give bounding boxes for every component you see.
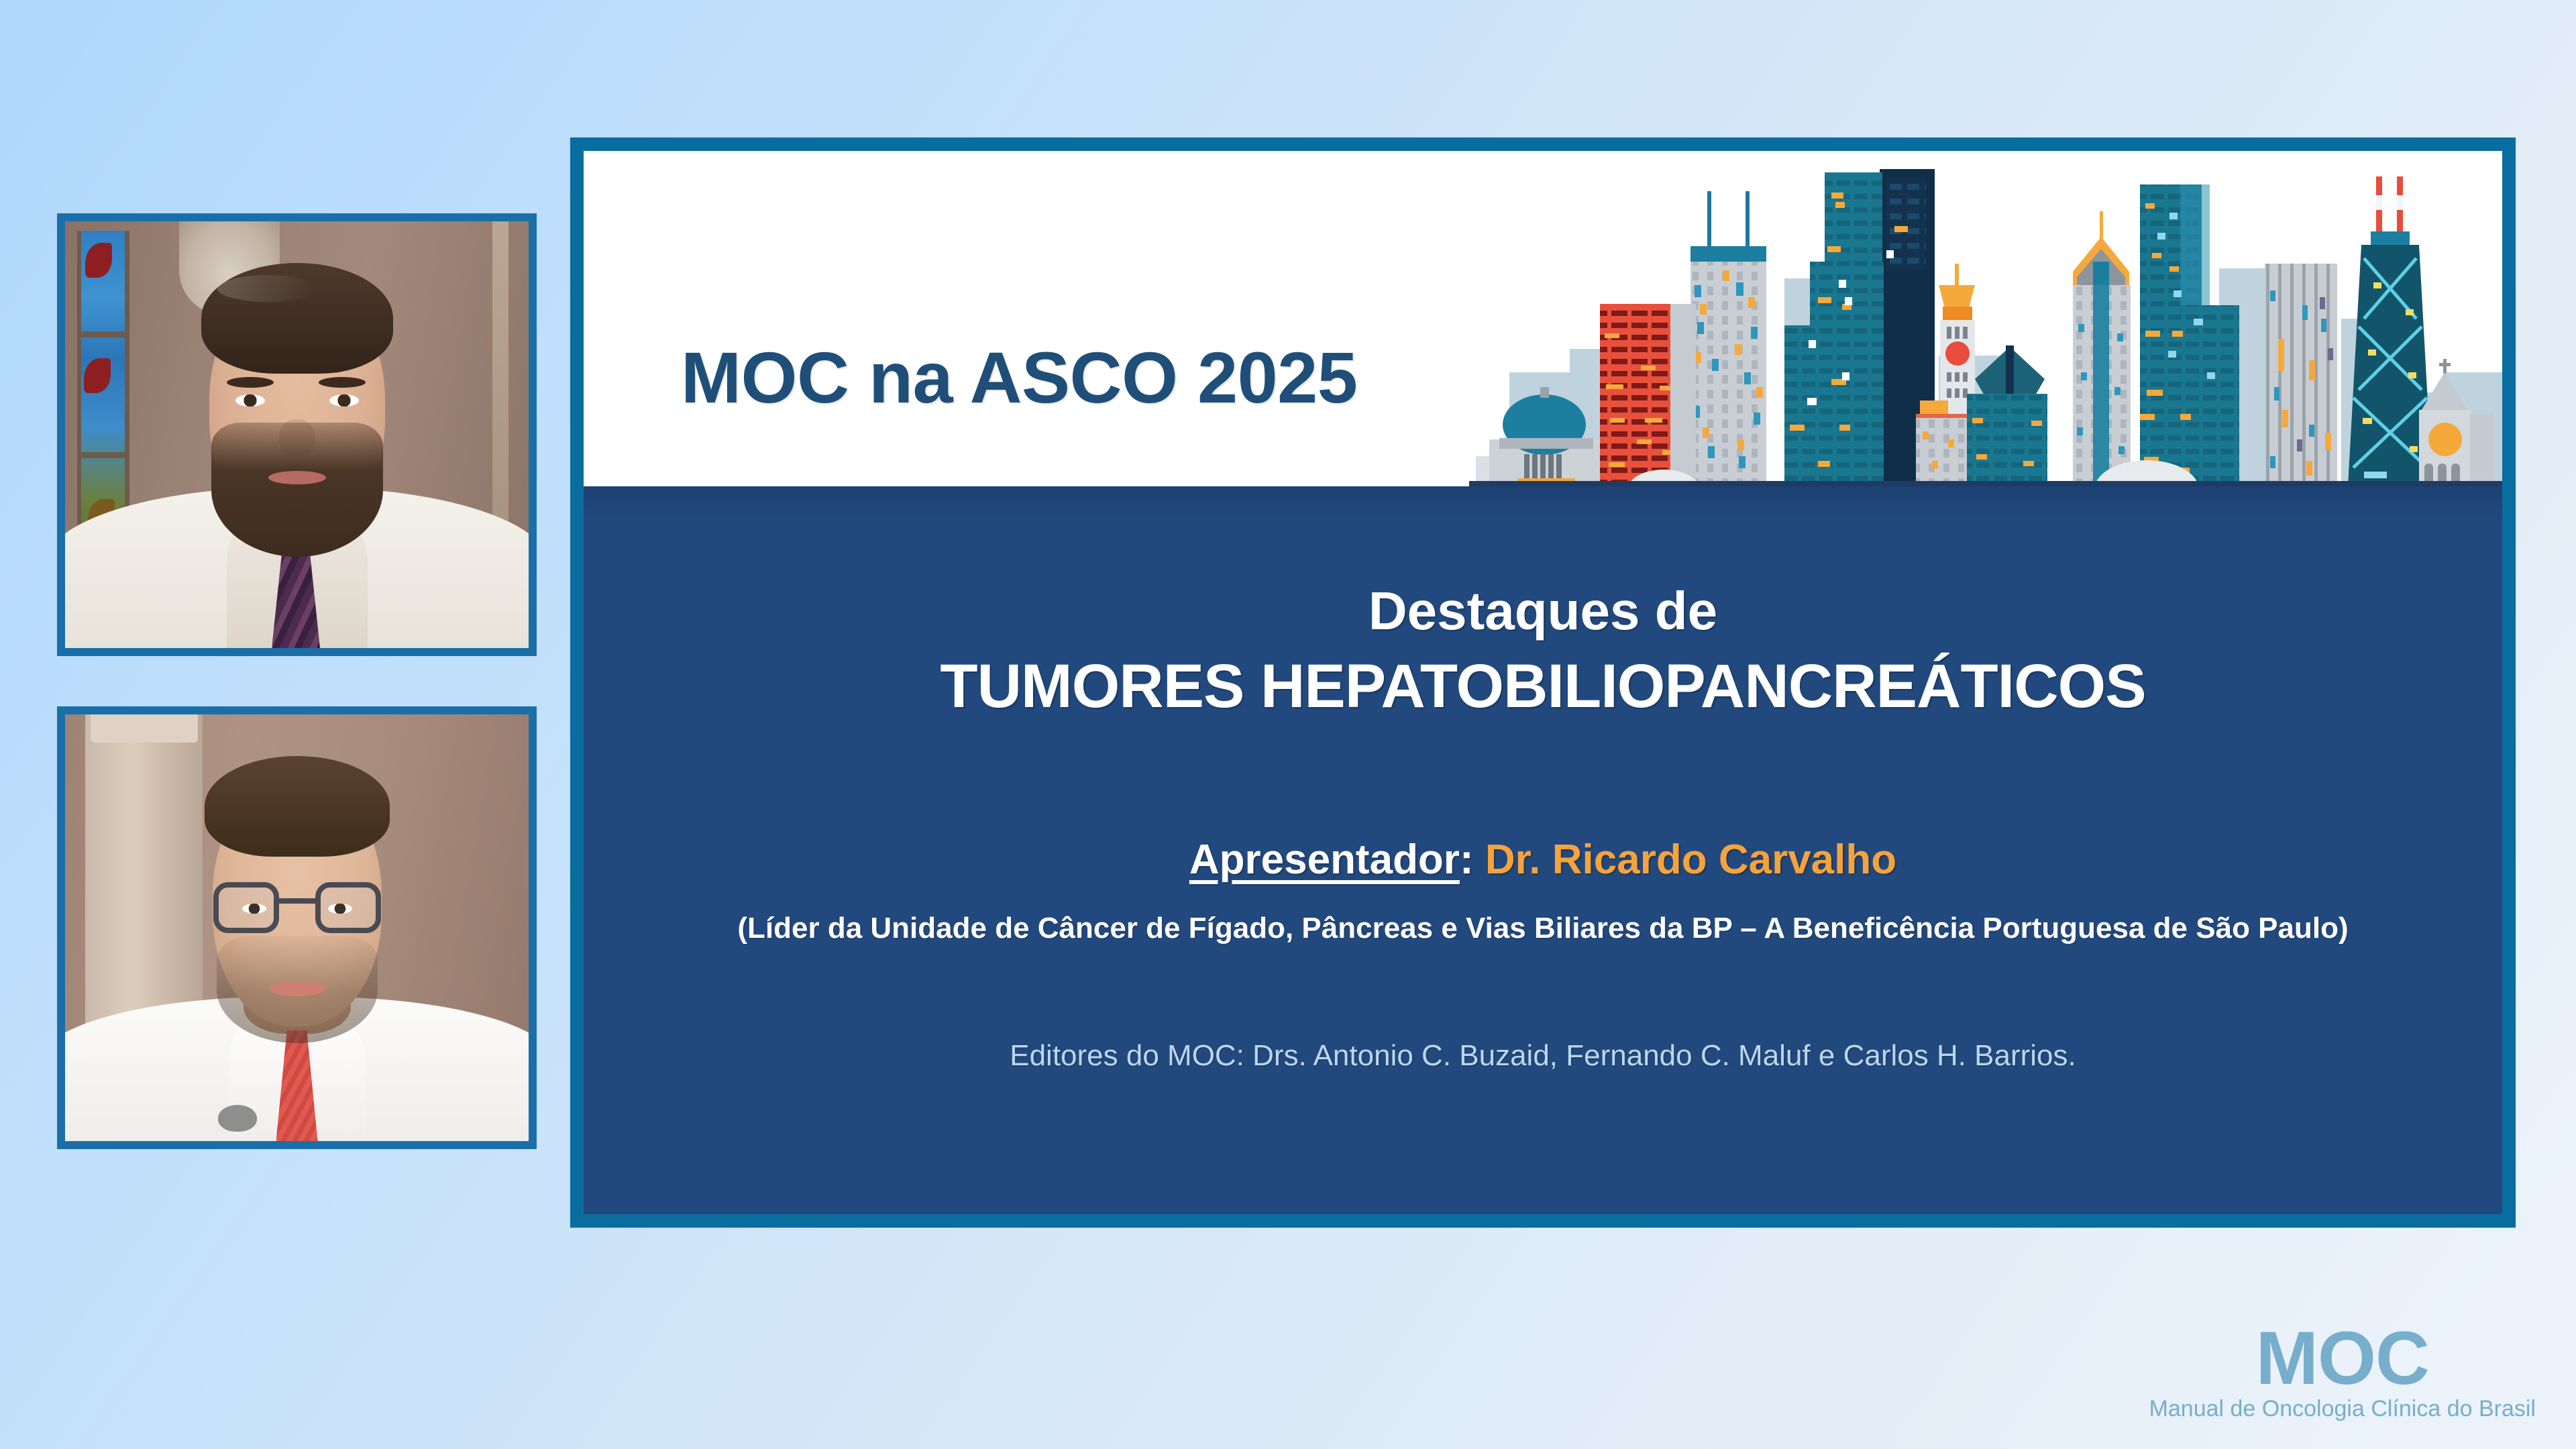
speaker-photo-top — [57, 213, 537, 656]
speaker-photo-bottom — [57, 706, 537, 1149]
portrait-top-hair — [201, 263, 393, 374]
portrait-top-lips — [268, 471, 326, 484]
headline-subtitle: Destaques de — [584, 486, 2502, 642]
portrait-top-eye-left — [235, 394, 265, 407]
portrait-bottom-eye-left — [242, 904, 266, 914]
portrait-top-beard — [211, 423, 383, 557]
presenter-separator: : — [1460, 837, 1474, 883]
editors-credit: Editores do MOC: Drs. Antonio C. Buzaid,… — [584, 1039, 2502, 1073]
headline-main: TUMORES HEPATOBILIOPANCREÁTICOS — [584, 651, 2502, 722]
speaker-photo-column — [57, 213, 537, 1149]
portrait-top-eyebrow-right — [319, 377, 366, 388]
presenter-name: Dr. Ricardo Carvalho — [1485, 837, 1896, 883]
moc-logo-subtitle: Manual de Oncologia Clínica do Brasil — [2149, 1396, 2536, 1422]
portrait-bottom-hair — [205, 756, 390, 857]
portrait-top-eyebrow-left — [227, 377, 274, 388]
moc-logo: MOC Manual de Oncologia Clínica do Brasi… — [2149, 1323, 2536, 1422]
portrait-bottom-lips — [269, 981, 325, 996]
portrait-top-eye-right — [329, 394, 359, 407]
presenter-affiliation: (Líder da Unidade de Câncer de Fígado, P… — [584, 912, 2502, 945]
portrait-bottom-lapel-pin — [218, 1105, 257, 1132]
slide-header-title: MOC na ASCO 2025 — [681, 335, 1357, 419]
presenter-label: Apresentador — [1189, 837, 1460, 883]
slide-body: Destaques de TUMORES HEPATOBILIOPANCREÁT… — [584, 486, 2502, 1214]
presentation-slide: MOC na ASCO 2025 — [570, 138, 2516, 1228]
slide-header: MOC na ASCO 2025 — [584, 151, 2502, 486]
chicago-skyline-illustration — [1469, 151, 2502, 486]
eyeglasses-icon — [213, 882, 381, 933]
presenter-line: Apresentador: Dr. Ricardo Carvalho — [584, 836, 2502, 883]
portrait-bottom-eye-right — [328, 904, 352, 914]
moc-logo-wordmark: MOC — [2149, 1323, 2536, 1393]
